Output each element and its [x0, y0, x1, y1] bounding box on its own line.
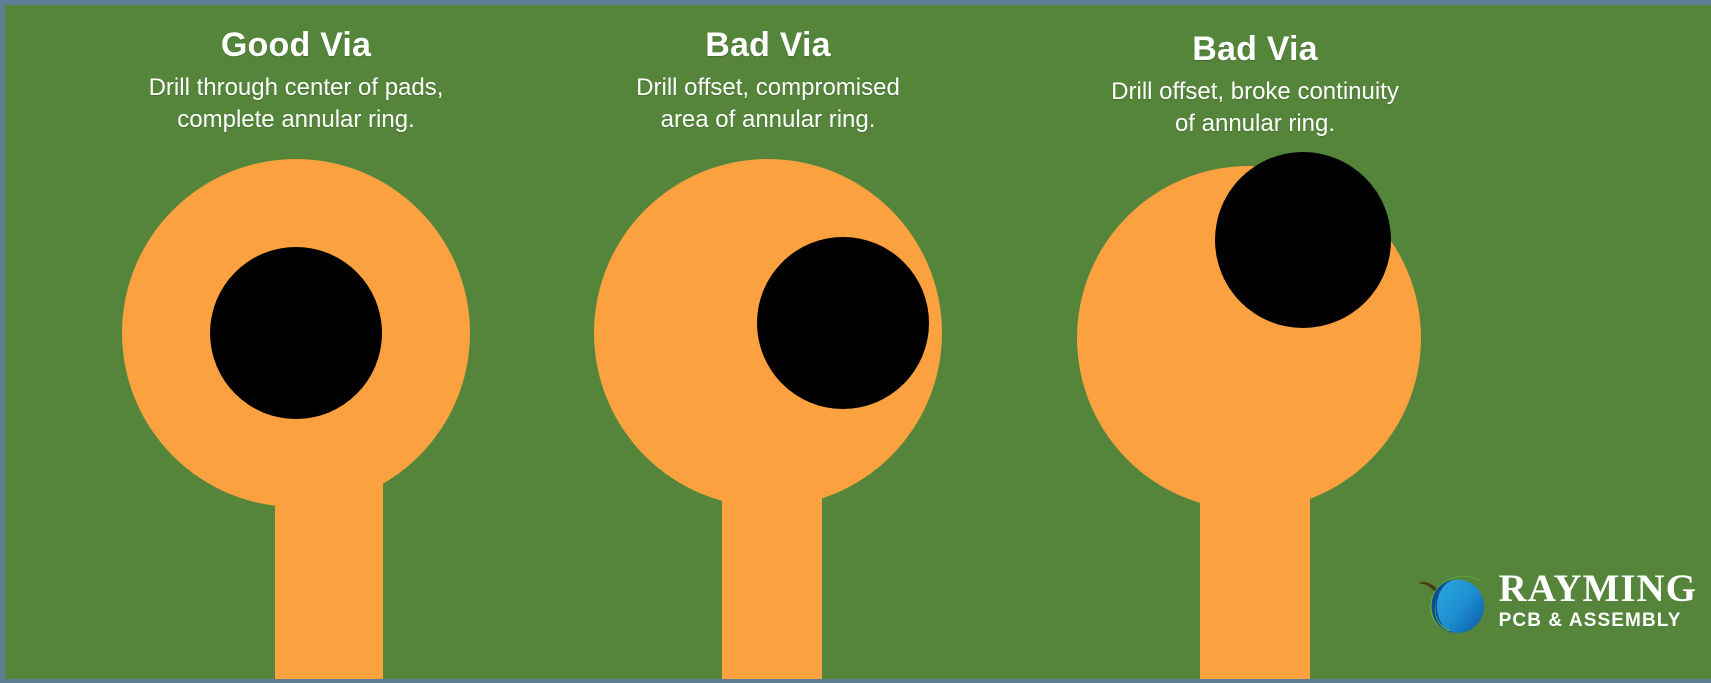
logo-brand-text: RAYMING [1499, 570, 1697, 608]
panel-caption-bad-offset-line2: area of annular ring. [548, 104, 988, 136]
globe-swoosh-icon [1411, 559, 1497, 645]
panel-caption-good-line1: Drill through center of pads, [56, 65, 536, 104]
panel-caption-bad-offset-line1: Drill offset, compromised [548, 65, 988, 104]
border-top [0, 0, 1711, 5]
pcb-via-infographic: Good Via Drill through center of pads, c… [0, 0, 1711, 683]
panel-caption-good-line2: complete annular ring. [56, 104, 536, 136]
logo-tagline-text: PCB & ASSEMBLY [1499, 608, 1682, 632]
panel-title-good: Good Via [56, 26, 536, 65]
border-left [0, 0, 5, 683]
panel-title-bad-breakout: Bad Via [1020, 30, 1490, 69]
panel-good-via: Good Via Drill through center of pads, c… [56, 0, 536, 683]
rayming-logo: RAYMING PCB & ASSEMBLY [1411, 559, 1697, 645]
panel-bad-via-offset: Bad Via Drill offset, compromised area o… [548, 0, 988, 683]
panel-title-bad-offset: Bad Via [548, 26, 988, 65]
panel-caption-bad-breakout-line1: Drill offset, broke continuity [1020, 69, 1490, 108]
border-bottom [0, 679, 1711, 683]
panel-caption-bad-breakout-line2: of annular ring. [1020, 108, 1490, 140]
